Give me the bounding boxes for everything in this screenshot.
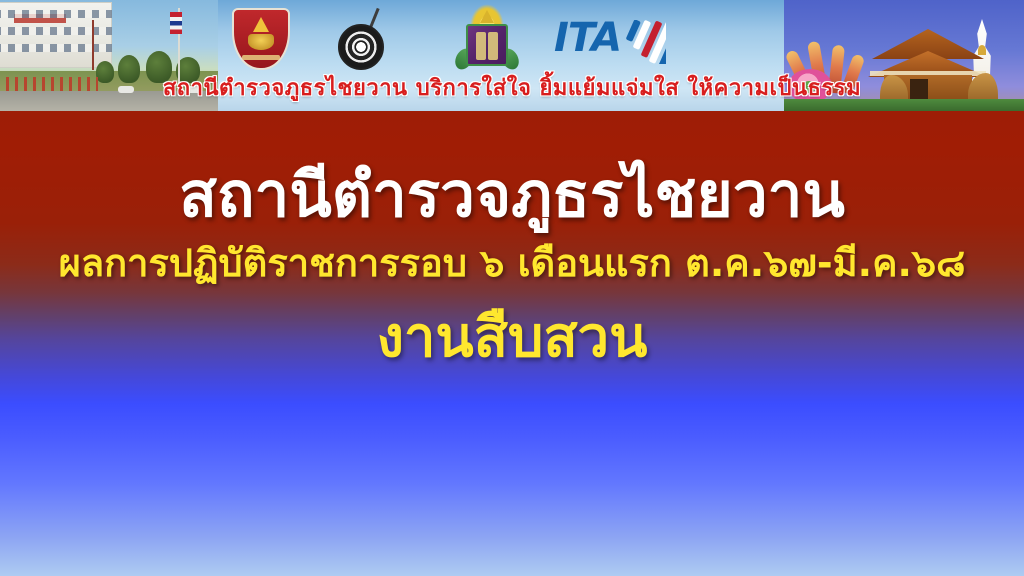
building-windows-row — [0, 44, 112, 52]
shield-ribbon — [242, 55, 280, 60]
shield-center-icon — [248, 34, 274, 50]
tree-graphic — [146, 51, 172, 83]
lotus-leaf-graphic — [802, 81, 816, 93]
dark-circular-seal-emblem — [330, 6, 394, 72]
presentation-slide: ITA — [0, 0, 1024, 576]
page-subtitle: ผลการปฏิบัติราชการรอบ ๖ เดือนแรก ต.ค.๖๗-… — [0, 239, 1024, 287]
ita-logo: ITA — [554, 18, 672, 68]
section-heading: งานสืบสวน — [0, 305, 1024, 371]
antenna-mast-graphic — [92, 20, 94, 70]
tree-graphic — [96, 61, 114, 83]
ita-swoosh-icon — [620, 20, 666, 64]
temple-door — [910, 79, 928, 101]
seal-circle-icon — [338, 24, 384, 70]
parked-car-graphic — [118, 86, 134, 93]
building-windows-row — [0, 10, 112, 18]
station-building-graphic — [0, 2, 112, 68]
tree-graphic — [118, 55, 140, 83]
road-graphic — [0, 91, 218, 111]
crown-icon — [480, 10, 494, 23]
police-station-photo — [0, 0, 218, 111]
header-banner: ITA — [0, 0, 1024, 111]
thai-flag-graphic — [170, 12, 182, 34]
emblem-row: ITA — [218, 0, 798, 111]
fence-graphic — [6, 77, 98, 91]
building-windows-row — [0, 27, 112, 35]
page-title: สถานีตำรวจภูธรไชยวาน — [0, 159, 1024, 231]
grass-strip-graphic — [784, 99, 1024, 111]
slide-body: สถานีตำรวจภูธรไชยวาน ผลการปฏิบัติราชการร… — [0, 111, 1024, 576]
parked-car-graphic — [186, 86, 202, 93]
royal-thai-police-emblem — [454, 4, 520, 74]
emblem-shield-icon — [466, 24, 508, 66]
crown-icon — [253, 17, 269, 32]
naga-sculpture-graphic — [788, 23, 872, 107]
police-shield-emblem — [232, 8, 290, 70]
ita-wordmark: ITA — [554, 18, 621, 58]
title-block: สถานีตำรวจภูธรไชยวาน ผลการปฏิบัติราชการร… — [0, 159, 1024, 371]
temple-photo — [784, 0, 1024, 111]
